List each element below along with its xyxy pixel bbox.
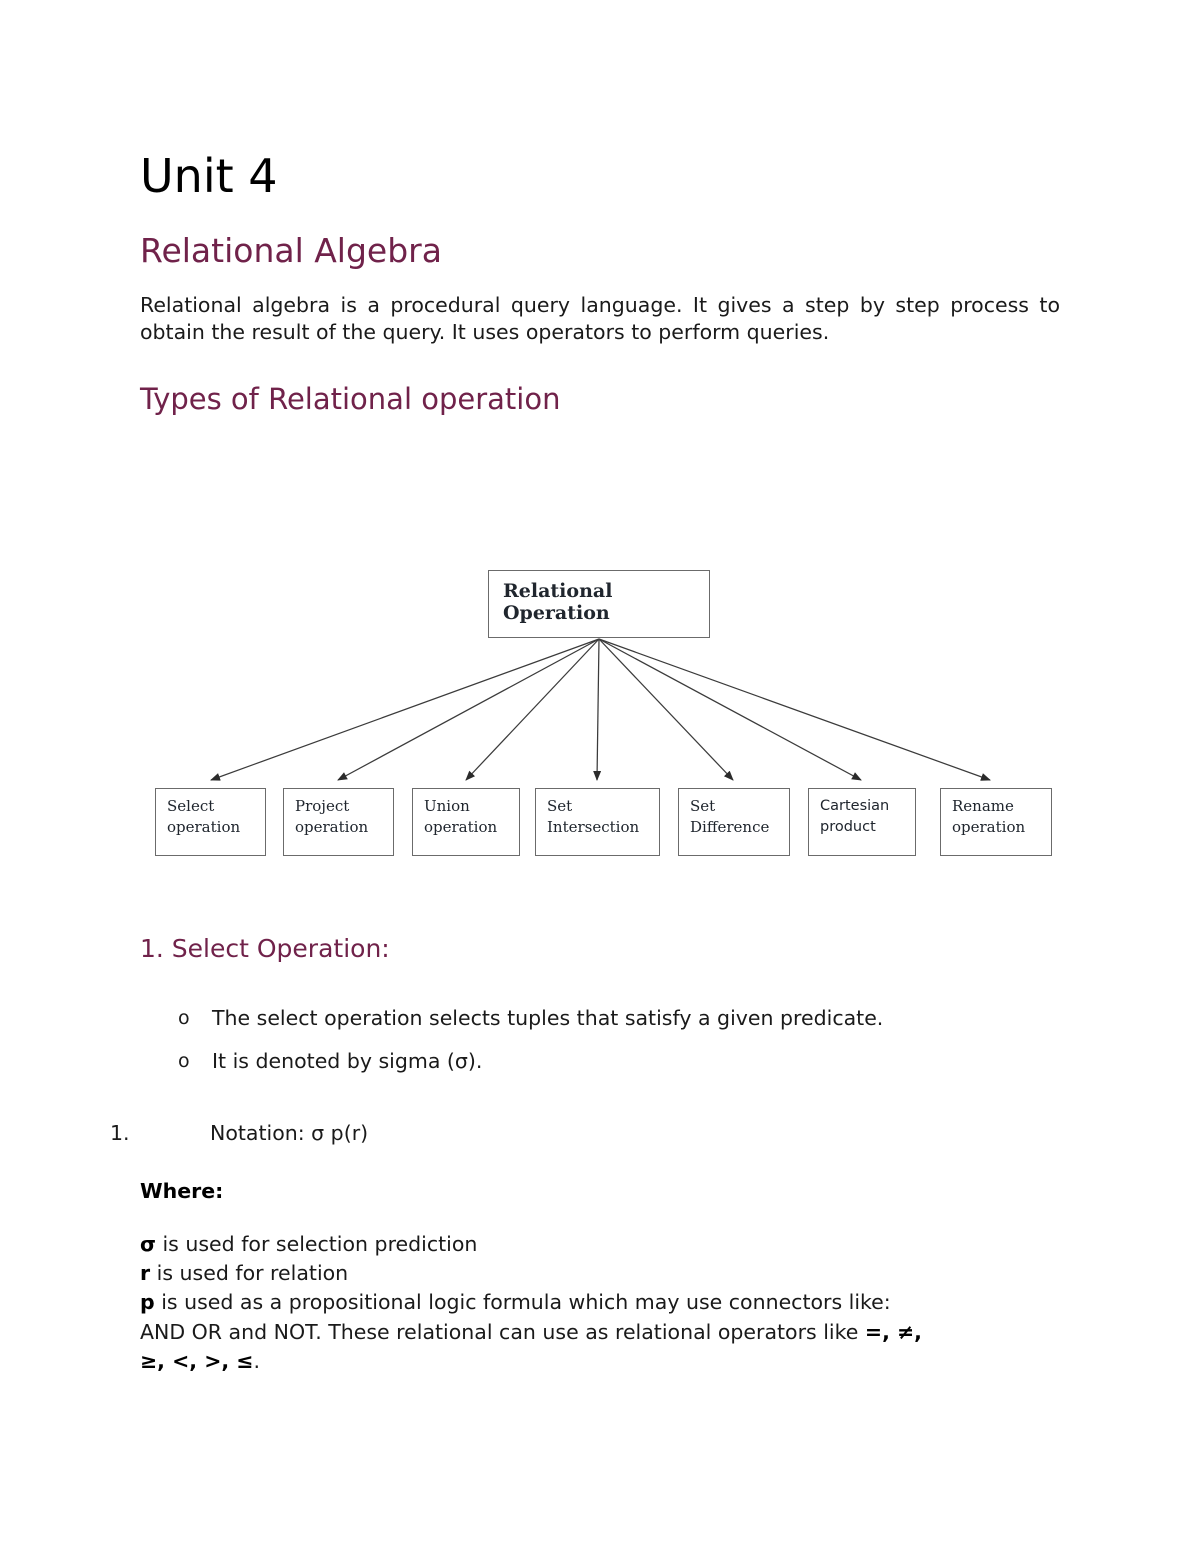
relational-operation-diagram: Relational Operation Select operation Pr… <box>0 555 1200 885</box>
diagram-node-union-operation: Union operation <box>412 788 520 856</box>
where-label: Where: <box>140 1148 1060 1206</box>
diagram-node-line2: Difference <box>690 817 778 838</box>
diagram-node-line2: product <box>820 817 904 838</box>
intro-paragraph: Relational algebra is a procedural query… <box>140 270 1060 347</box>
sigma-symbol: σ <box>140 1232 156 1256</box>
diagram-node-root-label: Relational Operation <box>503 580 612 624</box>
document-content: Unit 4 Relational Algebra Relational alg… <box>140 0 1060 416</box>
r-description: is used for relation <box>150 1261 348 1285</box>
subtitle-relational-algebra: Relational Algebra <box>140 200 1060 269</box>
list-item-text: The select operation selects tuples that… <box>212 1006 883 1030</box>
diagram-node-line1: Union <box>424 796 508 817</box>
r-symbol: r <box>140 1261 150 1285</box>
definitions-block: σ is used for selection prediction r is … <box>140 1205 1060 1376</box>
heading-select-operation: 1. Select Operation: <box>140 935 1060 963</box>
diagram-node-rename-operation: Rename operation <box>940 788 1052 856</box>
diagram-node-set-difference: Set Difference <box>678 788 790 856</box>
diagram-node-line2: operation <box>952 817 1040 838</box>
diagram-node-root: Relational Operation <box>488 570 710 638</box>
operators-period: . <box>253 1349 260 1373</box>
diagram-node-set-intersection: Set Intersection <box>535 788 660 856</box>
diagram-node-cartesian-product: Cartesian product <box>808 788 916 856</box>
p-symbol: p <box>140 1290 155 1314</box>
page-title: Unit 4 <box>140 0 1060 200</box>
diagram-node-project-operation: Project operation <box>283 788 394 856</box>
notation-line: 1.Notation: σ p(r) <box>140 1092 1060 1148</box>
diagram-node-line1: Project <box>295 796 382 817</box>
select-operation-section: 1. Select Operation: o The select operat… <box>140 935 1060 1376</box>
heading-types-of-relational-operation: Types of Relational operation <box>140 347 1060 416</box>
diagram-node-line1: Rename <box>952 796 1040 817</box>
document-page: Unit 4 Relational Algebra Relational alg… <box>0 0 1200 1553</box>
notation-number: 1. <box>110 1120 210 1148</box>
diagram-node-line1: Set <box>690 796 778 817</box>
diagram-node-line1: Select <box>167 796 254 817</box>
diagram-node-line1: Cartesian <box>820 796 904 817</box>
diagram-node-line2: operation <box>295 817 382 838</box>
operators-group-2: ≥, <, >, ≤ <box>140 1349 253 1373</box>
diagram-node-line1: Set <box>547 796 648 817</box>
bullet-marker: o <box>178 1048 190 1076</box>
sigma-description: is used for selection prediction <box>156 1232 477 1256</box>
operators-group-1: =, ≠, <box>865 1320 922 1344</box>
connectors-description: AND OR and NOT. These relational can use… <box>140 1320 865 1344</box>
bullet-marker: o <box>178 1005 190 1033</box>
p-description: is used as a propositional logic formula… <box>155 1290 891 1314</box>
notation-text: Notation: σ p(r) <box>210 1121 368 1145</box>
list-item: o The select operation selects tuples th… <box>140 1005 1060 1033</box>
diagram-node-select-operation: Select operation <box>155 788 266 856</box>
diagram-node-line2: operation <box>424 817 508 838</box>
list-item: o It is denoted by sigma (σ). <box>140 1048 1060 1076</box>
list-item-text: It is denoted by sigma (σ). <box>212 1049 482 1073</box>
select-operation-bullet-list: o The select operation selects tuples th… <box>140 1005 1060 1076</box>
diagram-node-line2: operation <box>167 817 254 838</box>
diagram-node-line2: Intersection <box>547 817 648 838</box>
